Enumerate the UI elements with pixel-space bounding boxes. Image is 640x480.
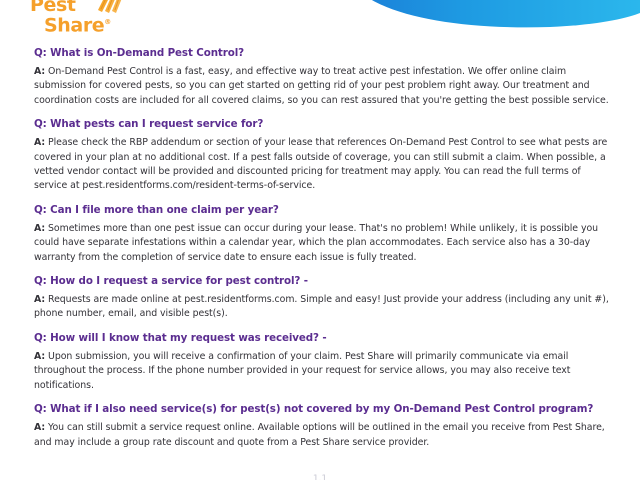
answer-text: Please check the RBP addendum or section… [34,137,607,191]
page-header: Pest Share® [0,0,640,42]
faq-answer: A: You can still submit a service reques… [34,421,614,450]
answer-prefix: A: [34,294,45,305]
faq-question: Q: What pests can I request service for? [34,117,614,131]
faq-answer: A: On-Demand Pest Control is a fast, eas… [34,65,614,108]
faq-question: Q: What is On-Demand Pest Control? [34,46,614,60]
answer-text: Sometimes more than one pest issue can o… [34,223,598,263]
faq-item: Q: How will I know that my request was r… [34,331,614,393]
clipped-footer-text: 1.1 [0,474,640,480]
faq-answer: A: Requests are made online at pest.resi… [34,293,614,322]
faq-answer: A: Please check the RBP addendum or sect… [34,136,614,194]
faq-question: Q: What if I also need service(s) for pe… [34,402,614,416]
faq-item: Q: How do I request a service for pest c… [34,274,614,322]
faq-item: Q: What pests can I request service for?… [34,117,614,194]
faq-answer: A: Sometimes more than one pest issue ca… [34,222,614,265]
faq-item: Q: Can I file more than one claim per ye… [34,203,614,265]
answer-text: Upon submission, you will receive a conf… [34,351,570,391]
faq-question: Q: How do I request a service for pest c… [34,274,614,288]
answer-text: You can still submit a service request o… [34,422,605,447]
answer-prefix: A: [34,351,45,362]
faq-answer: A: Upon submission, you will receive a c… [34,350,614,393]
answer-prefix: A: [34,137,45,148]
faq-question: Q: Can I file more than one claim per ye… [34,203,614,217]
brand-logo: Pest Share® [30,0,160,41]
logo-line-two: Share® [30,14,160,34]
faq-item: Q: What is On-Demand Pest Control? A: On… [34,46,614,108]
answer-text: On-Demand Pest Control is a fast, easy, … [34,66,609,106]
faq-item: Q: What if I also need service(s) for pe… [34,402,614,450]
bug-icon [92,0,126,17]
answer-text: Requests are made online at pest.residen… [34,294,609,319]
blue-swoosh-decoration [350,0,640,42]
logo-trademark: ® [104,18,111,26]
faq-list: Q: What is On-Demand Pest Control? A: On… [34,46,614,459]
faq-question: Q: How will I know that my request was r… [34,331,614,345]
answer-prefix: A: [34,223,45,234]
answer-prefix: A: [34,422,45,433]
answer-prefix: A: [34,66,45,77]
